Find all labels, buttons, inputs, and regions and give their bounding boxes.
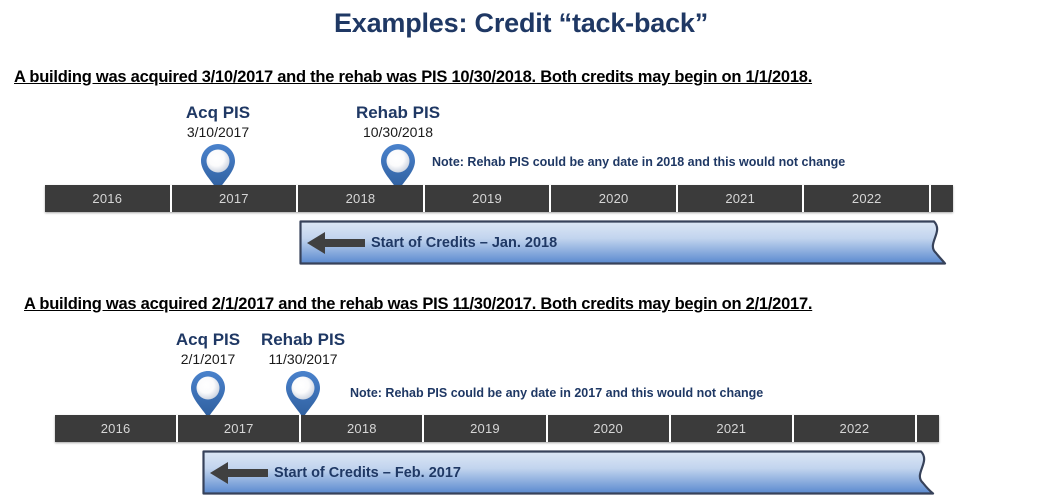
banner-label: Start of Credits – Feb. 2017: [274, 450, 461, 495]
example-1-pin-rehab-pis: Rehab PIS 10/30/2018: [328, 103, 468, 195]
timeline-cell-year: 2016: [55, 415, 176, 442]
example-2-credit-banner: Start of Credits – Feb. 2017: [202, 450, 939, 495]
pin-label: Acq PIS: [148, 103, 288, 123]
timeline-cell-year: 2021: [678, 185, 803, 212]
example-1-timeline: 2016 2017 2018 2019 2020 2021 2022: [45, 185, 953, 212]
timeline-cell-year: 2016: [45, 185, 170, 212]
pin-date: 3/10/2017: [148, 124, 288, 142]
timeline-cell-year: 2019: [424, 415, 545, 442]
example-1-note: Note: Rehab PIS could be any date in 201…: [432, 155, 845, 169]
timeline-cell-year: 2018: [298, 185, 423, 212]
pin-date: 10/30/2018: [328, 124, 468, 142]
timeline-cell-year: 2021: [671, 415, 792, 442]
banner-label: Start of Credits – Jan. 2018: [371, 220, 557, 265]
timeline-cell-partial: [931, 185, 953, 212]
timeline-cell-partial: [917, 415, 939, 442]
timeline-cell-year: 2022: [804, 185, 929, 212]
left-arrow-icon: [210, 461, 268, 485]
example-1-heading: A building was acquired 3/10/2017 and th…: [14, 68, 812, 87]
pin-label: Rehab PIS: [328, 103, 468, 123]
example-2-heading: A building was acquired 2/1/2017 and the…: [24, 295, 812, 314]
timeline-cell-year: 2020: [551, 185, 676, 212]
example-2-timeline: 2016 2017 2018 2019 2020 2021 2022: [55, 415, 939, 442]
example-1-credit-banner: Start of Credits – Jan. 2018: [299, 220, 951, 265]
map-pin-icon: [189, 370, 227, 420]
timeline-cell-year: 2018: [301, 415, 422, 442]
pin-label: Rehab PIS: [233, 330, 373, 350]
map-pin-icon: [284, 370, 322, 420]
timeline-cell-year: 2017: [178, 415, 299, 442]
example-2-pin-rehab-pis: Rehab PIS 11/30/2017: [233, 330, 373, 422]
timeline-cell-year: 2020: [548, 415, 669, 442]
timeline-cell-year: 2017: [172, 185, 297, 212]
left-arrow-icon: [307, 231, 365, 255]
page-title: Examples: Credit “tack-back”: [0, 8, 1042, 39]
pin-date: 11/30/2017: [233, 351, 373, 369]
timeline-cell-year: 2019: [425, 185, 550, 212]
example-2-note: Note: Rehab PIS could be any date in 201…: [350, 386, 763, 400]
example-1-pin-acq-pis: Acq PIS 3/10/2017: [148, 103, 288, 195]
timeline-cell-year: 2022: [794, 415, 915, 442]
